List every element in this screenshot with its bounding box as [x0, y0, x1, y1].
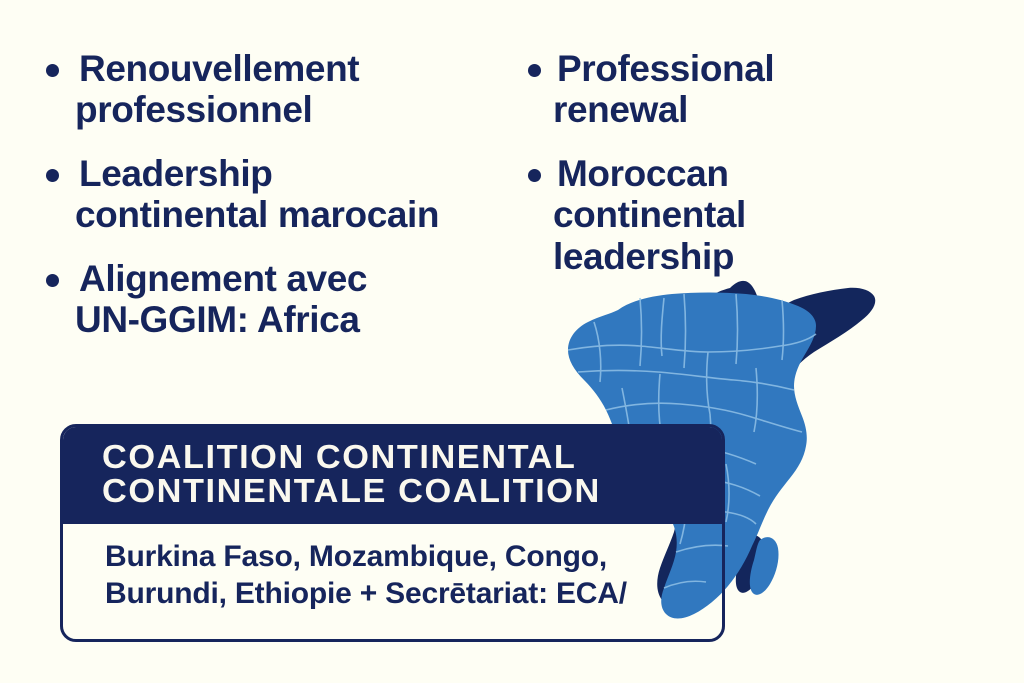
bullet-fr-2-text: Leadership continental marocain: [79, 153, 439, 236]
bullets-column-french: Renouvellement professionnel Leadership …: [46, 48, 566, 363]
bullet-en-2-line1: Moroccan: [557, 153, 729, 194]
coalition-members-list: Burkina Faso, Mozambique, Congo, Burundi…: [105, 539, 725, 612]
bullet-dot-icon: [46, 274, 59, 287]
bullet-en-1: Professional renewal: [528, 48, 858, 131]
bullets-column-english: Professional renewal Moroccan continenta…: [528, 48, 858, 299]
bullet-dot-icon: [528, 169, 541, 182]
coalition-header-banner: COALITION CONTINENTAL CONTINENTALE COALI…: [60, 424, 725, 524]
bullet-en-1-line1: Professional: [557, 48, 774, 89]
bullet-fr-3: Alignement avec UN-GGIM: Africa: [46, 258, 566, 341]
bullet-fr-3-text: Alignement avec UN-GGIM: Africa: [79, 258, 367, 341]
bullet-dot-icon: [46, 64, 59, 77]
bullet-fr-1-line2: professionnel: [75, 89, 359, 130]
bullet-fr-1-text: Renouvellement professionnel: [79, 48, 359, 131]
bullet-fr-2: Leadership continental marocain: [46, 153, 566, 236]
coalition-header-line1: COALITION CONTINENTAL: [102, 440, 725, 474]
coalition-members-line2: Burundi, Ethiopie + Secrētariat: ECA/: [105, 576, 725, 613]
bullet-fr-1-line1: Renouvellement: [79, 48, 359, 89]
bullet-fr-1: Renouvellement professionnel: [46, 48, 566, 131]
bullet-dot-icon: [46, 169, 59, 182]
bullet-dot-icon: [528, 64, 541, 77]
bullet-en-1-line2: renewal: [553, 89, 774, 130]
bullet-fr-3-line1: Alignement avec: [79, 258, 367, 299]
bullet-en-2-text: Moroccan continental leadership: [557, 153, 746, 277]
bullet-fr-2-line2: continental marocain: [75, 194, 439, 235]
bullet-en-2-line3: leadership: [553, 236, 746, 277]
coalition-card: COALITION CONTINENTAL CONTINENTALE COALI…: [60, 424, 725, 642]
coalition-header-line2: CONTINENTALE COALITION: [102, 474, 725, 508]
coalition-members-line1: Burkina Faso, Mozambique, Congo,: [105, 539, 725, 576]
bullet-en-2: Moroccan continental leadership: [528, 153, 858, 277]
bullet-en-1-text: Professional renewal: [557, 48, 774, 131]
bullet-en-2-line2: continental: [553, 194, 746, 235]
bullet-fr-3-line2: UN-GGIM: Africa: [75, 299, 367, 340]
bullet-fr-2-line1: Leadership: [79, 153, 272, 194]
slide-root: Renouvellement professionnel Leadership …: [0, 0, 1024, 683]
